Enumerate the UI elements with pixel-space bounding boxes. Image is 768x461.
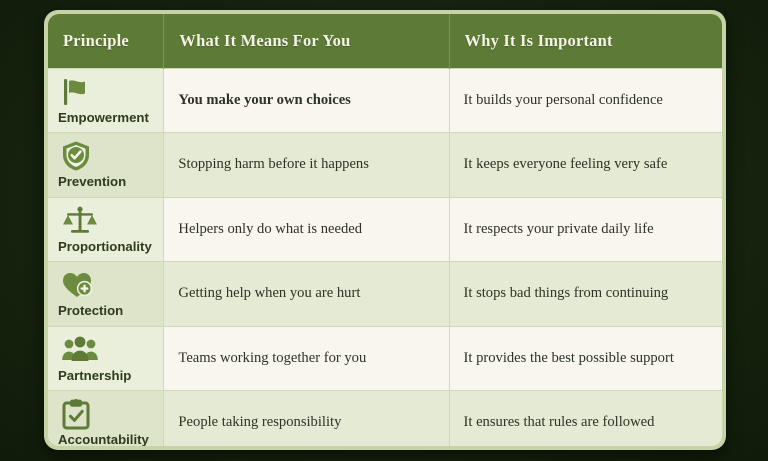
cell-why: It keeps everyone feeling very safe: [449, 133, 722, 198]
principle-label: Protection: [58, 304, 123, 319]
flag-icon: [61, 75, 101, 109]
principles-card-inner: Principle What It Means For You Why It I…: [48, 14, 722, 446]
people-group-icon: [61, 333, 101, 367]
table-row: Protection Getting help when you are hur…: [48, 262, 722, 327]
cell-principle-prevention: Prevention: [48, 133, 164, 198]
cell-why: It respects your private daily life: [449, 197, 722, 262]
cell-means: Getting help when you are hurt: [164, 262, 449, 327]
cell-means: Helpers only do what is needed: [164, 197, 449, 262]
principle-label: Accountability: [58, 433, 149, 446]
clipboard-check-icon: [61, 397, 101, 431]
table-header-row: Principle What It Means For You Why It I…: [48, 14, 722, 68]
cell-why: It stops bad things from continuing: [449, 262, 722, 327]
cell-why: It provides the best possible support: [449, 326, 722, 391]
table-header: Principle What It Means For You Why It I…: [48, 14, 722, 68]
table-row: Prevention Stopping harm before it happe…: [48, 133, 722, 198]
principle-label: Partnership: [58, 369, 131, 384]
cell-means: Stopping harm before it happens: [164, 133, 449, 198]
table-row: Empowerment You make your own choices It…: [48, 68, 722, 133]
principle-label: Prevention: [58, 175, 126, 190]
shield-check-icon: [61, 139, 101, 173]
table-row: Accountability People taking responsibil…: [48, 391, 722, 446]
balance-scales-icon: [61, 204, 101, 238]
cell-principle-protection: Protection: [48, 262, 164, 327]
column-header-why-important: Why It Is Important: [449, 14, 722, 68]
heart-plus-icon: [61, 268, 101, 302]
cell-means: You make your own choices: [164, 68, 449, 133]
cell-principle-proportionality: Proportionality: [48, 197, 164, 262]
cell-why: It ensures that rules are followed: [449, 391, 722, 446]
column-header-principle: Principle: [48, 14, 164, 68]
principles-card: Principle What It Means For You Why It I…: [44, 10, 726, 450]
table-row: Proportionality Helpers only do what is …: [48, 197, 722, 262]
cell-why: It builds your personal confidence: [449, 68, 722, 133]
cell-principle-empowerment: Empowerment: [48, 68, 164, 133]
principle-label: Proportionality: [58, 240, 152, 255]
cell-principle-accountability: Accountability: [48, 391, 164, 446]
cell-means: Teams working together for you: [164, 326, 449, 391]
principles-table: Principle What It Means For You Why It I…: [48, 14, 722, 446]
table-body: Empowerment You make your own choices It…: [48, 68, 722, 446]
cell-principle-partnership: Partnership: [48, 326, 164, 391]
column-header-what-it-means: What It Means For You: [164, 14, 449, 68]
table-row: Partnership Teams working together for y…: [48, 326, 722, 391]
principle-label: Empowerment: [58, 111, 149, 126]
cell-means: People taking responsibility: [164, 391, 449, 446]
